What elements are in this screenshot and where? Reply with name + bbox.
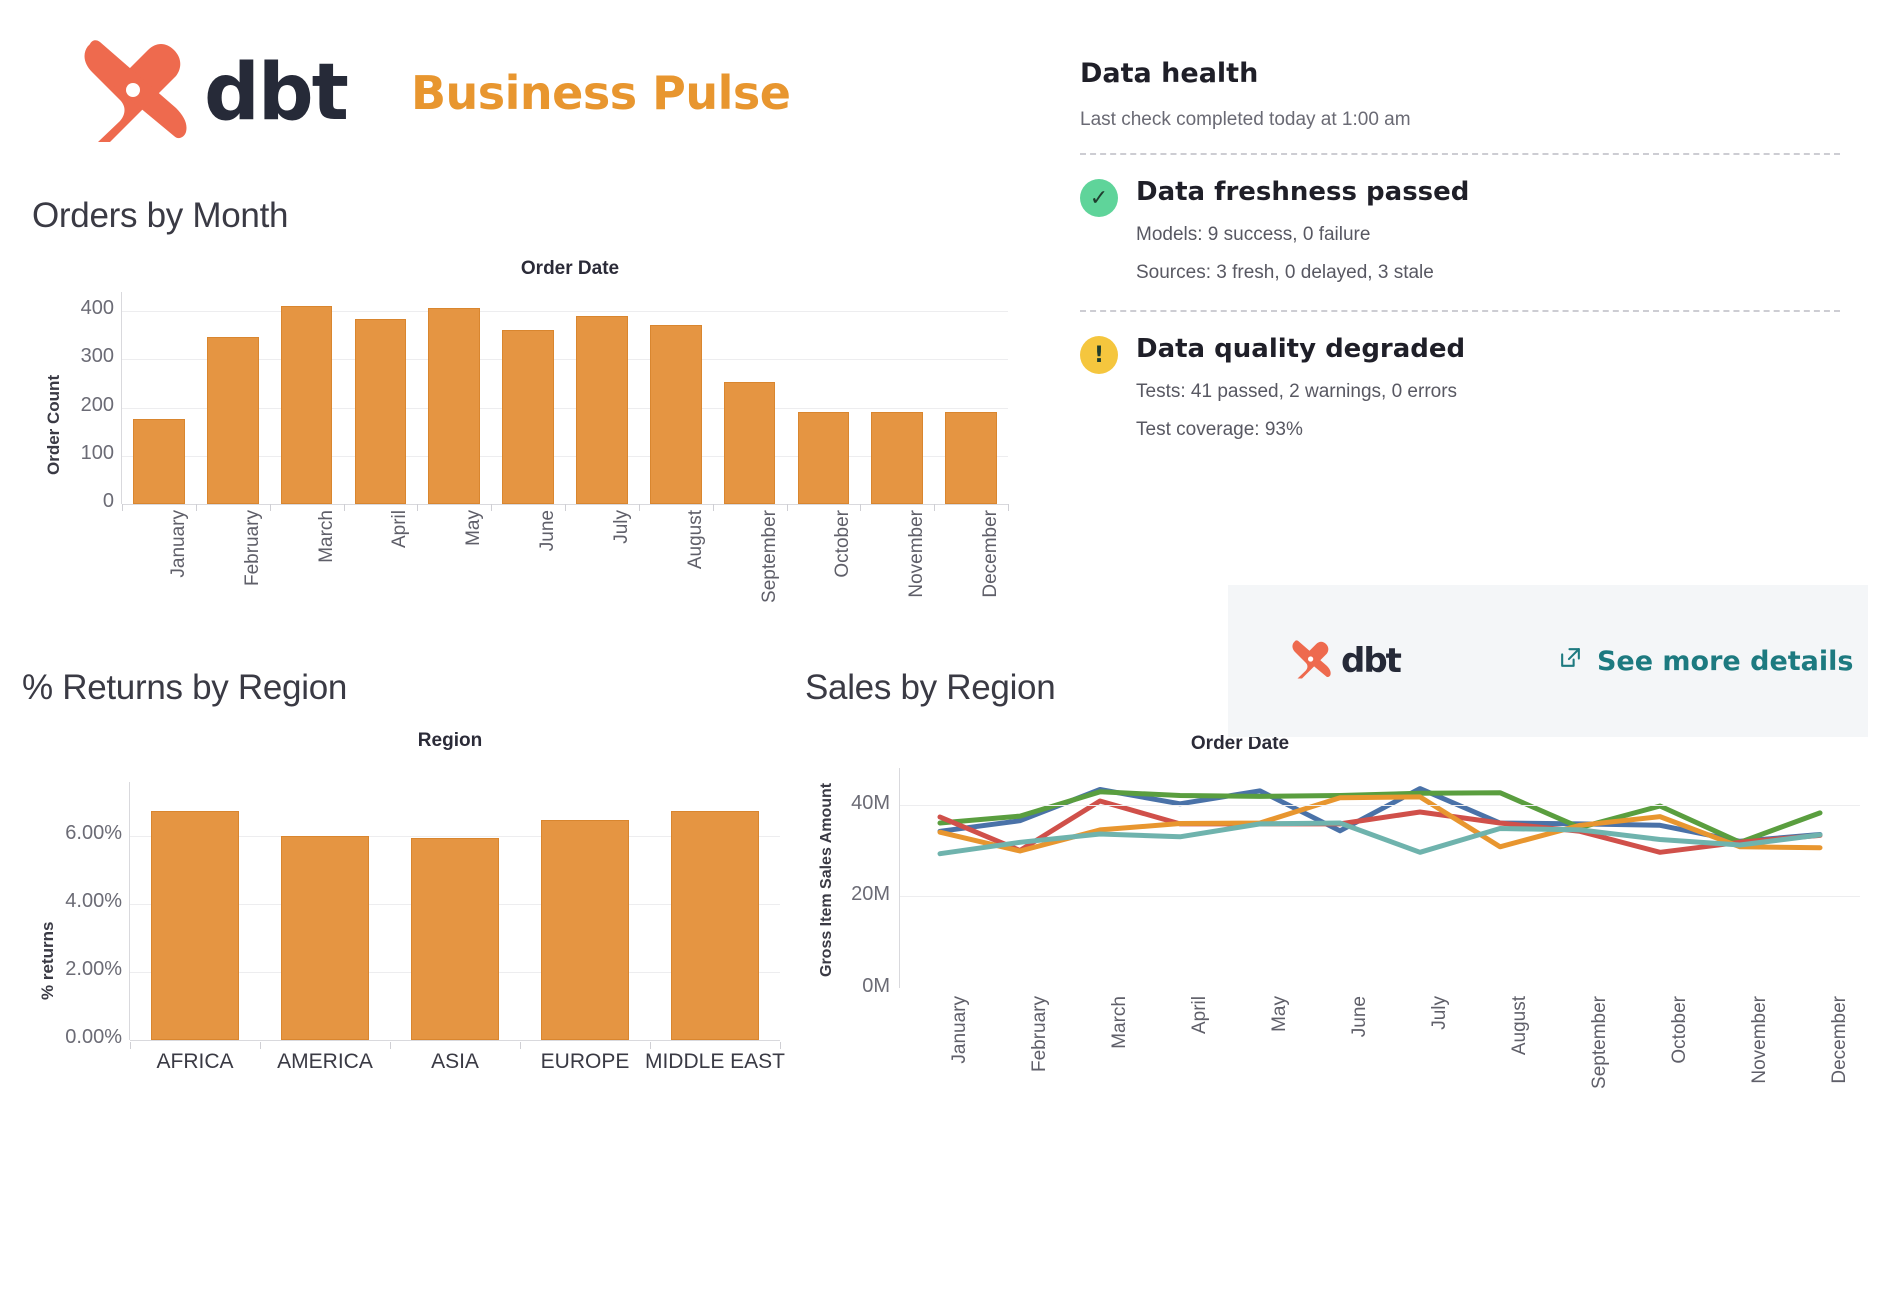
bar[interactable] <box>355 319 407 504</box>
x-tick-label: November <box>906 510 928 598</box>
health-freshness-sources: Sources: 3 fresh, 0 delayed, 3 stale <box>1136 262 1469 284</box>
x-tick-mark <box>1008 504 1009 511</box>
bar[interactable] <box>541 820 629 1040</box>
x-tick-mark <box>196 504 197 511</box>
x-tick-mark <box>417 504 418 511</box>
orders-x-tick-labels: JanuaryFebruaryMarchAprilMayJuneJulyAugu… <box>122 504 1008 634</box>
bar[interactable] <box>724 382 776 504</box>
x-tick-mark <box>491 504 492 511</box>
bar[interactable] <box>207 337 259 504</box>
x-tick-mark <box>390 1042 391 1049</box>
y-tick-label: 100 <box>58 442 114 465</box>
orders-plot-area <box>122 292 1008 504</box>
dbt-logo: dbt <box>78 38 347 147</box>
x-tick-label: October <box>832 510 854 578</box>
bar[interactable] <box>151 811 239 1040</box>
x-tick-mark <box>122 504 123 511</box>
bar[interactable] <box>502 330 554 504</box>
x-tick-mark <box>130 1042 131 1049</box>
x-tick-label: April <box>1189 996 1211 1034</box>
page-header: dbt Business Pulse <box>78 38 790 147</box>
bar[interactable] <box>411 838 499 1040</box>
y-tick-label: 300 <box>58 345 114 368</box>
x-tick-label: July <box>611 510 633 544</box>
returns-x-axis-line <box>130 1040 780 1041</box>
health-freshness-models: Models: 9 success, 0 failure <box>1136 224 1469 246</box>
data-health-cta-card: dbt See more details <box>1228 585 1868 737</box>
divider <box>1080 153 1840 155</box>
health-quality-coverage: Test coverage: 93% <box>1136 419 1465 441</box>
bar[interactable] <box>133 419 185 504</box>
data-health-title: Data health <box>1080 58 1840 89</box>
y-tick-label: 4.00% <box>18 890 122 913</box>
x-tick-label: July <box>1429 996 1451 1030</box>
x-tick-label: December <box>980 510 1002 598</box>
bar[interactable] <box>671 811 759 1040</box>
dbt-wordmark: dbt <box>204 48 347 138</box>
x-tick-label: May <box>1269 996 1291 1032</box>
x-tick-label: September <box>759 510 781 603</box>
returns-y-axis-line <box>129 782 130 1040</box>
see-more-details-link[interactable]: See more details <box>1558 645 1854 677</box>
x-tick-mark <box>713 504 714 511</box>
check-circle-icon: ✓ <box>1080 179 1118 217</box>
bar[interactable] <box>945 412 997 505</box>
health-item-quality: ! Data quality degraded Tests: 41 passed… <box>1080 334 1840 441</box>
warning-glyph: ! <box>1080 336 1118 374</box>
bar[interactable] <box>871 412 923 505</box>
x-tick-label: August <box>685 510 707 569</box>
x-tick-label: September <box>1589 996 1611 1089</box>
divider <box>1080 310 1840 312</box>
x-tick-label: November <box>1749 996 1771 1084</box>
dbt-x-mark-icon <box>78 38 190 147</box>
y-tick-label: 40M <box>838 792 890 815</box>
x-tick-label: June <box>1349 996 1371 1037</box>
see-more-details-label: See more details <box>1597 646 1854 677</box>
returns-x-tick-labels: AFRICAAMERICAASIAEUROPEMIDDLE EAST <box>130 1042 780 1092</box>
x-tick-mark <box>270 504 271 511</box>
gridline <box>900 896 1860 897</box>
sales-line-series <box>900 768 1860 988</box>
x-tick-label: February <box>242 510 264 586</box>
y-tick-label: 0.00% <box>18 1026 122 1049</box>
sales-plot-area <box>900 768 1860 988</box>
x-tick-label: January <box>949 996 971 1064</box>
bar[interactable] <box>798 412 850 505</box>
x-tick-mark <box>780 1042 781 1049</box>
y-tick-label: 0M <box>838 975 890 998</box>
x-tick-label: May <box>463 510 485 546</box>
y-tick-label: 400 <box>58 297 114 320</box>
x-tick-label: AMERICA <box>277 1050 373 1074</box>
dbt-x-mark-icon <box>1290 639 1332 684</box>
x-tick-mark <box>639 504 640 511</box>
gridline <box>900 805 1860 806</box>
page-title: Business Pulse <box>411 66 791 120</box>
x-tick-mark <box>860 504 861 511</box>
x-tick-label: January <box>168 510 190 578</box>
x-tick-mark <box>565 504 566 511</box>
x-tick-label: EUROPE <box>541 1050 630 1074</box>
sales-y-axis-label: Gross Item Sales Amount <box>818 762 836 977</box>
returns-panel-title: % Returns by Region <box>22 668 822 708</box>
x-tick-mark <box>260 1042 261 1049</box>
x-tick-label: March <box>1109 996 1131 1049</box>
data-health-panel: Data health Last check completed today a… <box>1080 58 1840 441</box>
x-tick-label: December <box>1829 996 1851 1084</box>
health-freshness-heading: Data freshness passed <box>1136 177 1469 208</box>
warning-circle-icon: ! <box>1080 336 1118 374</box>
orders-y-axis-line <box>121 292 122 504</box>
x-tick-mark <box>520 1042 521 1049</box>
health-quality-tests: Tests: 41 passed, 2 warnings, 0 errors <box>1136 381 1465 403</box>
x-tick-label: October <box>1669 996 1691 1064</box>
x-tick-label: August <box>1509 996 1531 1055</box>
bar[interactable] <box>428 308 480 504</box>
x-tick-mark <box>650 1042 651 1049</box>
bar[interactable] <box>281 836 369 1040</box>
dbt-wordmark: dbt <box>1341 641 1400 681</box>
bar[interactable] <box>281 306 333 504</box>
returns-chart-top-label: Region <box>370 730 530 752</box>
orders-panel-title: Orders by Month <box>32 196 1032 236</box>
sales-x-tick-labels: JanuaryFebruaryMarchAprilMayJuneJulyAugu… <box>900 990 1860 1110</box>
gridline <box>122 311 1008 312</box>
y-tick-label: 200 <box>58 394 114 417</box>
check-glyph: ✓ <box>1080 179 1118 217</box>
y-tick-label: 0 <box>58 490 114 513</box>
bar[interactable] <box>650 325 702 504</box>
x-tick-mark <box>787 504 788 511</box>
orders-chart-top-label: Order Date <box>460 258 680 280</box>
health-quality-heading: Data quality degraded <box>1136 334 1465 365</box>
x-tick-label: March <box>316 510 338 563</box>
x-tick-label: ASIA <box>431 1050 479 1074</box>
external-link-icon <box>1558 645 1583 677</box>
orders-by-month-panel: Orders by Month <box>32 196 1032 236</box>
y-tick-label: 20M <box>838 883 890 906</box>
bar[interactable] <box>576 316 628 504</box>
y-tick-label: 2.00% <box>18 958 122 981</box>
data-health-subtitle: Last check completed today at 1:00 am <box>1080 109 1840 131</box>
x-tick-label: June <box>537 510 559 551</box>
x-tick-label: April <box>389 510 411 548</box>
x-tick-mark <box>934 504 935 511</box>
x-tick-label: MIDDLE EAST <box>645 1050 785 1074</box>
x-tick-label: February <box>1029 996 1051 1072</box>
returns-plot-area <box>130 782 780 1040</box>
y-tick-label: 6.00% <box>18 822 122 845</box>
health-item-freshness: ✓ Data freshness passed Models: 9 succes… <box>1080 177 1840 284</box>
x-tick-label: AFRICA <box>156 1050 233 1074</box>
returns-by-region-panel: % Returns by Region <box>22 668 822 708</box>
dbt-logo-small: dbt <box>1290 639 1400 684</box>
x-tick-mark <box>344 504 345 511</box>
